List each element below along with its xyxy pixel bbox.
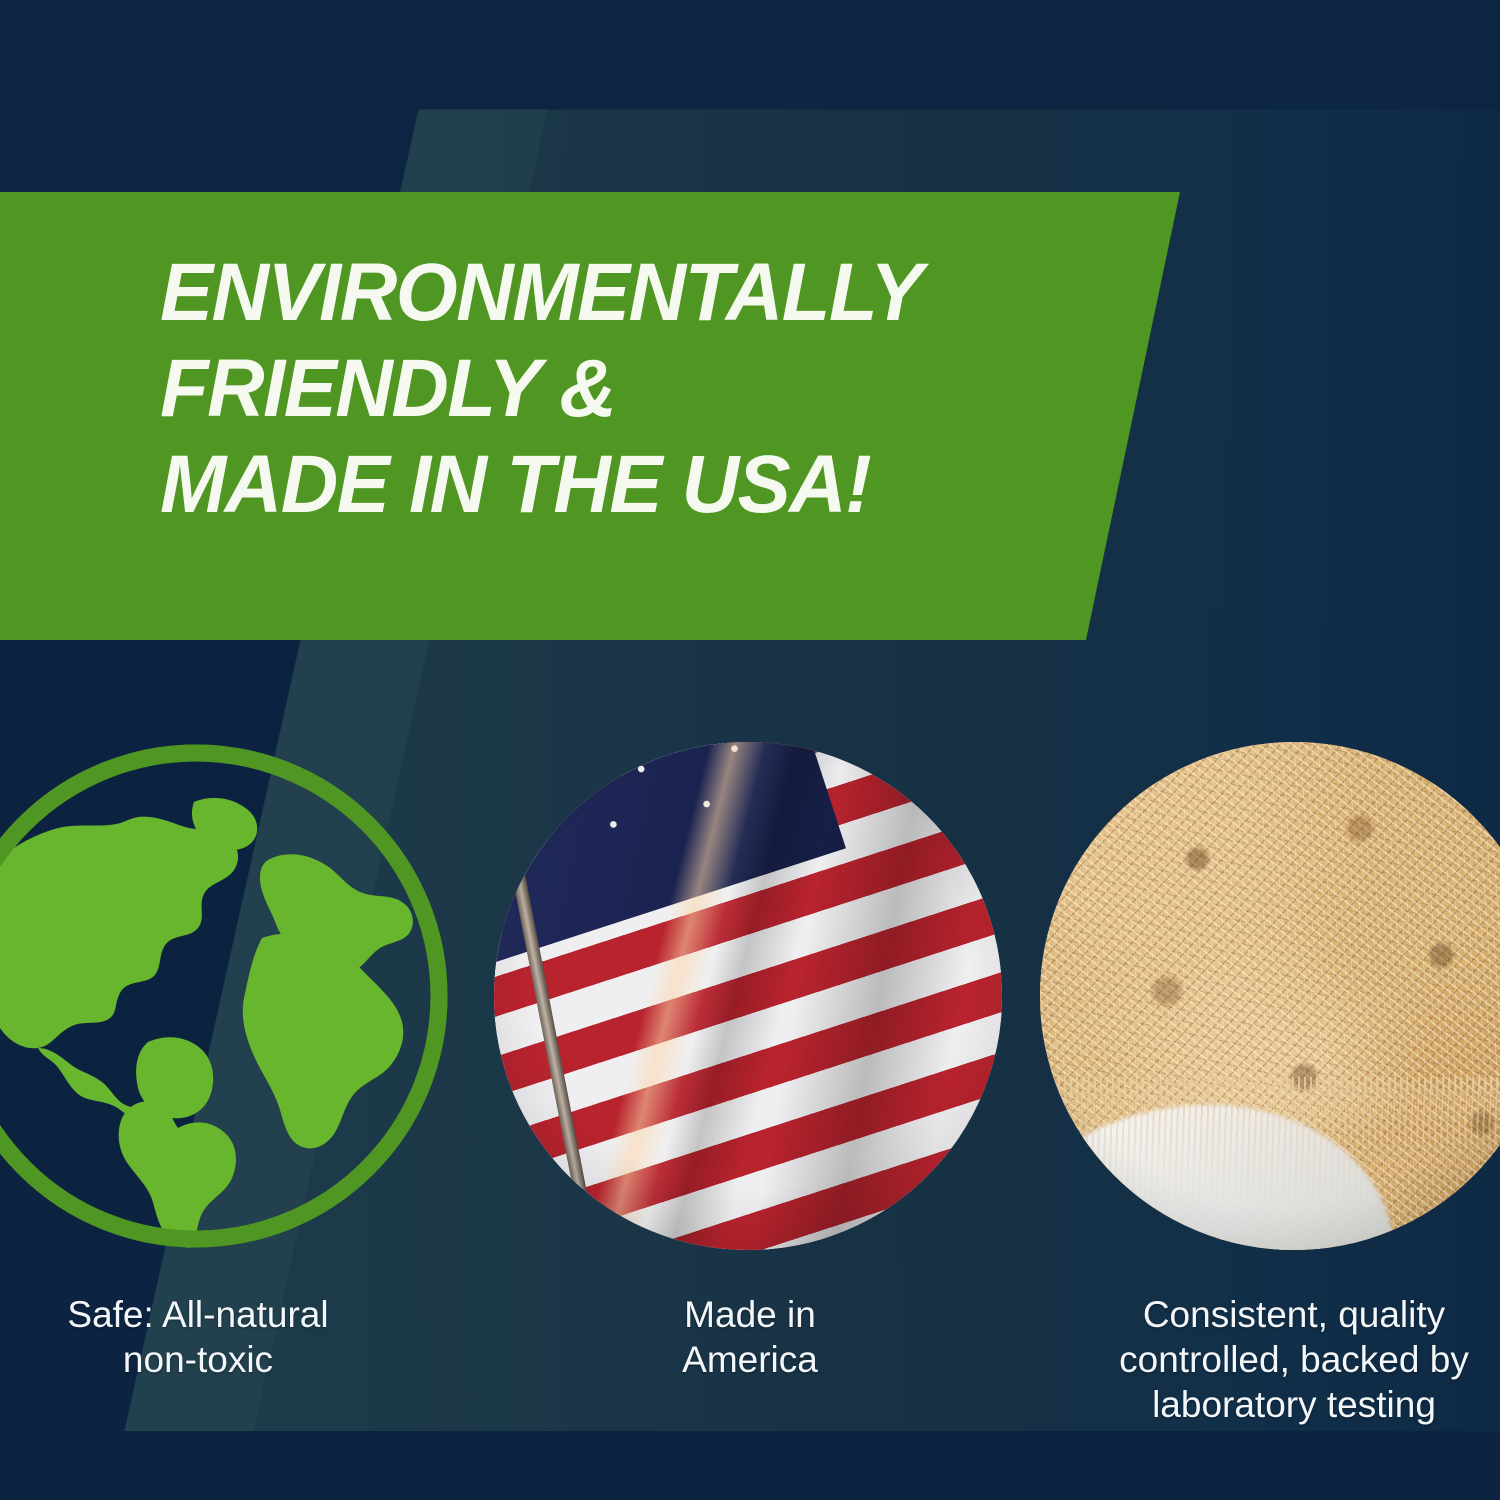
natural-fiber-photo (1040, 742, 1500, 1250)
feature-row (0, 742, 1500, 1262)
caption-made-in-usa: Made in America (496, 1292, 1004, 1382)
caption-quality: Consistent, quality controlled, backed b… (1040, 1292, 1500, 1427)
globe-icon (0, 742, 450, 1250)
photo-vignette (494, 742, 1002, 1250)
caption-quality-line-1: Consistent, quality (1040, 1292, 1500, 1337)
headline-line-1: ENVIRONMENTALLY (160, 245, 1091, 341)
feature-quality (1040, 742, 1500, 1250)
caption-usa-line-1: Made in (496, 1292, 1004, 1337)
caption-usa-line-2: America (496, 1337, 1004, 1382)
photo-vignette (1040, 742, 1500, 1250)
caption-quality-line-3: laboratory testing (1040, 1382, 1500, 1427)
promotional-poster: ENVIRONMENTALLY FRIENDLY & MADE IN THE U… (0, 0, 1500, 1500)
feature-made-in-usa (494, 742, 1002, 1250)
us-flag-photo (494, 742, 1002, 1250)
headline-text: ENVIRONMENTALLY FRIENDLY & MADE IN THE U… (160, 245, 1120, 533)
caption-eco-line-1: Safe: All-natural (0, 1292, 452, 1337)
caption-eco-line-2: non-toxic (0, 1337, 452, 1382)
caption-quality-line-2: controlled, backed by (1040, 1337, 1500, 1382)
headline-line-3: MADE IN THE USA! (160, 437, 1091, 533)
headline-line-2: FRIENDLY & (160, 341, 1091, 437)
feature-eco (0, 742, 450, 1250)
caption-eco: Safe: All-natural non-toxic (0, 1292, 452, 1382)
